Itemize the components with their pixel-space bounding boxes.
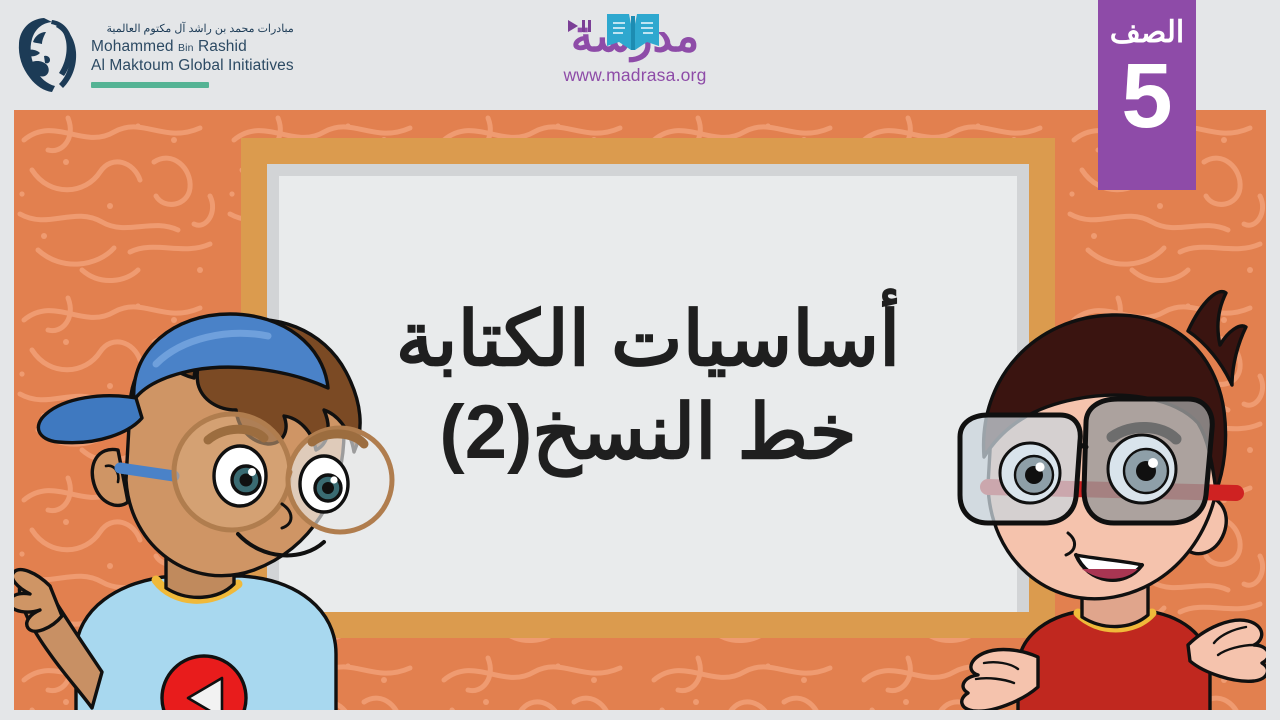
madrasa-logo[interactable]: مدرسة	[540, 10, 730, 98]
mbr-en1-bin: Bin	[178, 42, 193, 54]
mbr-english-line-2: Al Maktoum Global Initiatives	[91, 56, 294, 76]
grade-label: الصف	[1110, 18, 1185, 48]
madrasa-wordmark-group: مدرسة	[547, 10, 723, 66]
sheikh-portrait-icon	[14, 16, 80, 94]
mbr-arabic-line: مبادرات محمد بن راشد آل مكتوم العالمية	[91, 22, 294, 37]
play-pause-icon	[567, 19, 593, 33]
grade-number: 5	[1121, 52, 1172, 140]
lesson-title-card: أساسيات الكتابة خط النسخ(2)	[0, 0, 1280, 720]
open-book-icon	[605, 10, 661, 54]
mbr-en1-part-a: Mohammed	[91, 38, 178, 55]
character-boy-with-red-headband	[926, 265, 1266, 710]
character-boy-with-blue-cap	[14, 280, 476, 710]
madrasa-url[interactable]: www.madrasa.org	[563, 65, 706, 86]
content-panel: أساسيات الكتابة خط النسخ(2)	[14, 110, 1266, 710]
mbr-en1-part-b: Rashid	[194, 38, 247, 55]
mbr-global-initiatives-logo: مبادرات محمد بن راشد آل مكتوم العالمية M…	[14, 12, 334, 98]
mbr-logo-text: مبادرات محمد بن راشد آل مكتوم العالمية M…	[91, 22, 294, 89]
header-bar: مبادرات محمد بن راشد آل مكتوم العالمية M…	[0, 0, 1280, 110]
lesson-title-line-2: خط النسخ(2)	[439, 387, 856, 480]
mbr-accent-rule	[91, 82, 209, 88]
mbr-english-line-1: Mohammed Bin Rashid	[91, 37, 294, 57]
grade-badge: الصف 5	[1098, 0, 1196, 190]
